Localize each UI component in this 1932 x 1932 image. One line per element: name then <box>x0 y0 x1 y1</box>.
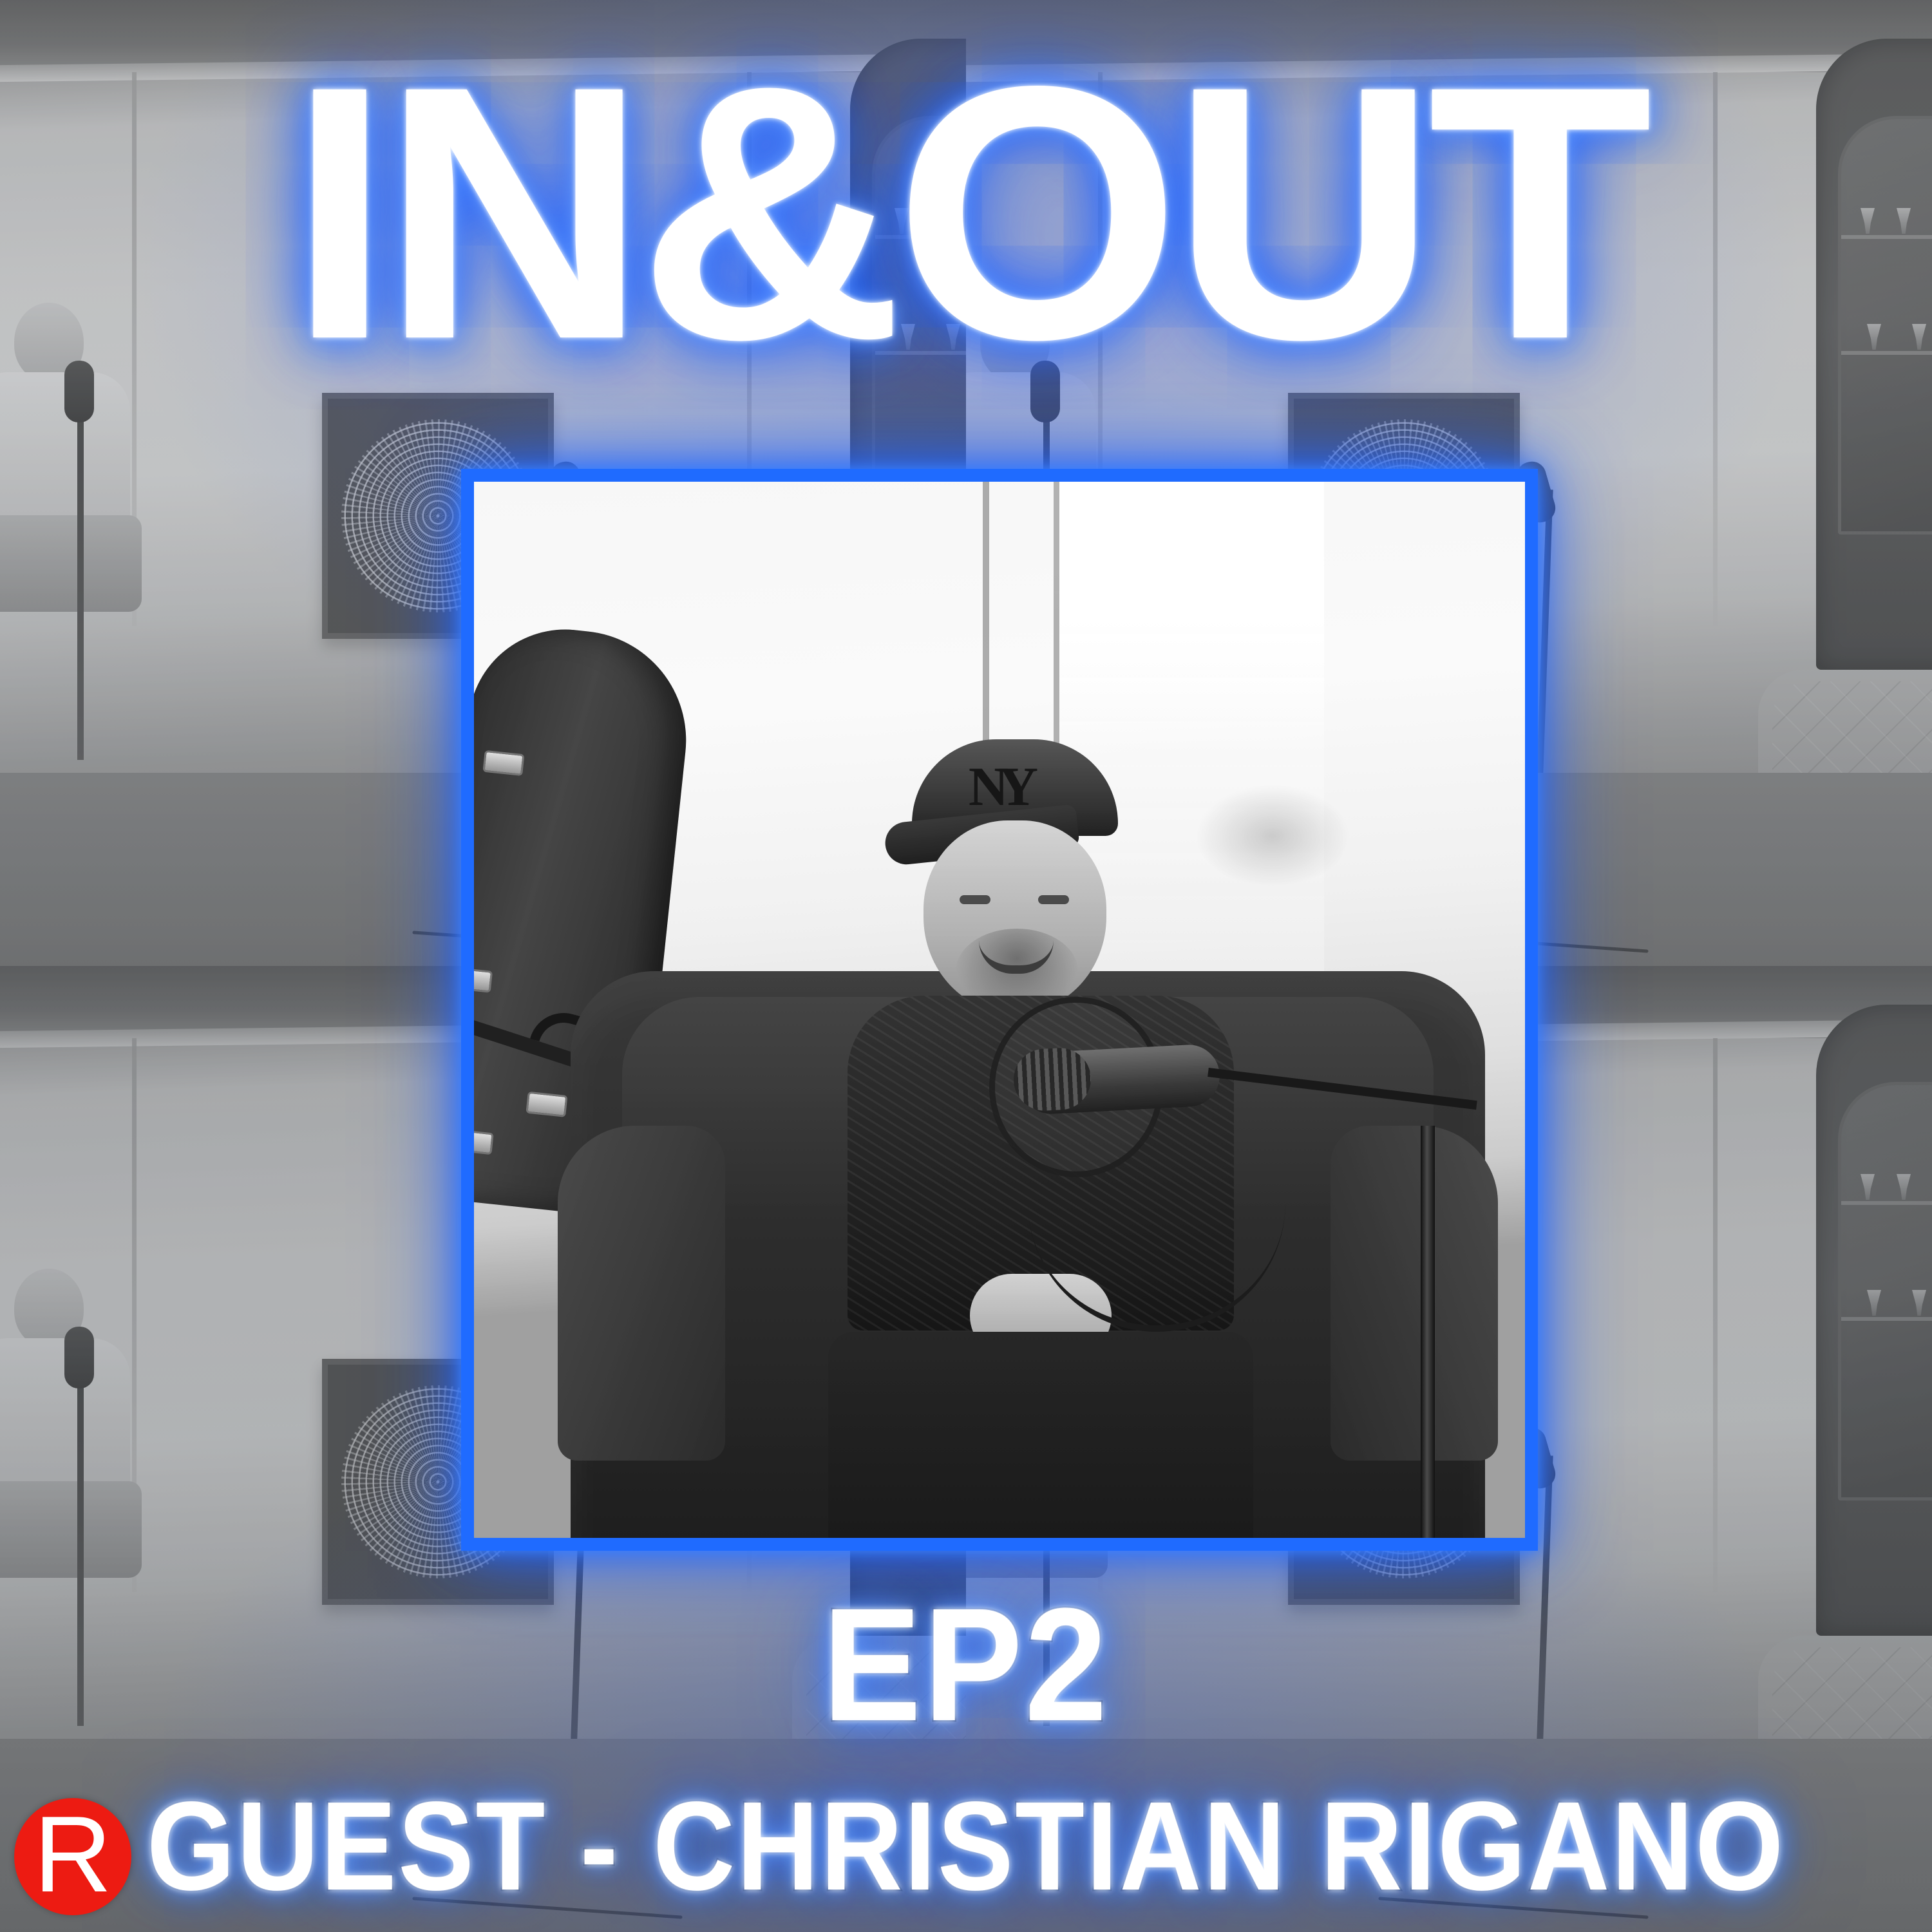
glassware <box>1897 1174 1911 1200</box>
cabinet-shelf <box>1841 1317 1932 1321</box>
episode-number: EP2 <box>77 1584 1855 1745</box>
person-silhouette <box>0 1269 148 1571</box>
show-title: IN&OUT <box>0 19 1932 406</box>
guest-eye <box>1038 895 1069 904</box>
episode-photo: NY <box>474 482 1525 1538</box>
person-legs <box>0 1481 142 1578</box>
ny-cap-logo: NY <box>967 761 1029 811</box>
podcast-cover-art: IN&OUT NY <box>0 0 1932 1932</box>
glass-cabinet <box>1816 1005 1932 1636</box>
glassware <box>1912 1290 1926 1316</box>
mic-stand <box>77 399 84 760</box>
network-logo-letter: R <box>33 1800 111 1908</box>
glassware <box>1861 1174 1875 1200</box>
case-latch <box>482 750 524 776</box>
glassware <box>1867 1290 1881 1316</box>
mic-head <box>64 1327 94 1388</box>
case-latch <box>526 1092 567 1117</box>
cabinet-glass <box>1838 1082 1932 1501</box>
person-legs <box>0 515 142 612</box>
guest-eye <box>960 895 990 904</box>
case-latch <box>474 967 493 992</box>
couch-arm-right <box>1331 1126 1498 1461</box>
episode-photo-frame: NY <box>461 469 1538 1551</box>
cabinet-shelf <box>1841 1201 1932 1205</box>
network-logo-badge: R <box>14 1798 131 1915</box>
guest-pants <box>828 1332 1253 1538</box>
couch-arm-left <box>558 1126 725 1461</box>
guest-face <box>923 820 1106 1014</box>
guest-name-line: GUEST - CHRISTIAN RIGANO <box>97 1779 1835 1914</box>
wall-seam <box>1713 1038 1718 1592</box>
mic-stand-pole <box>1421 1126 1435 1538</box>
case-latch <box>474 1129 494 1155</box>
